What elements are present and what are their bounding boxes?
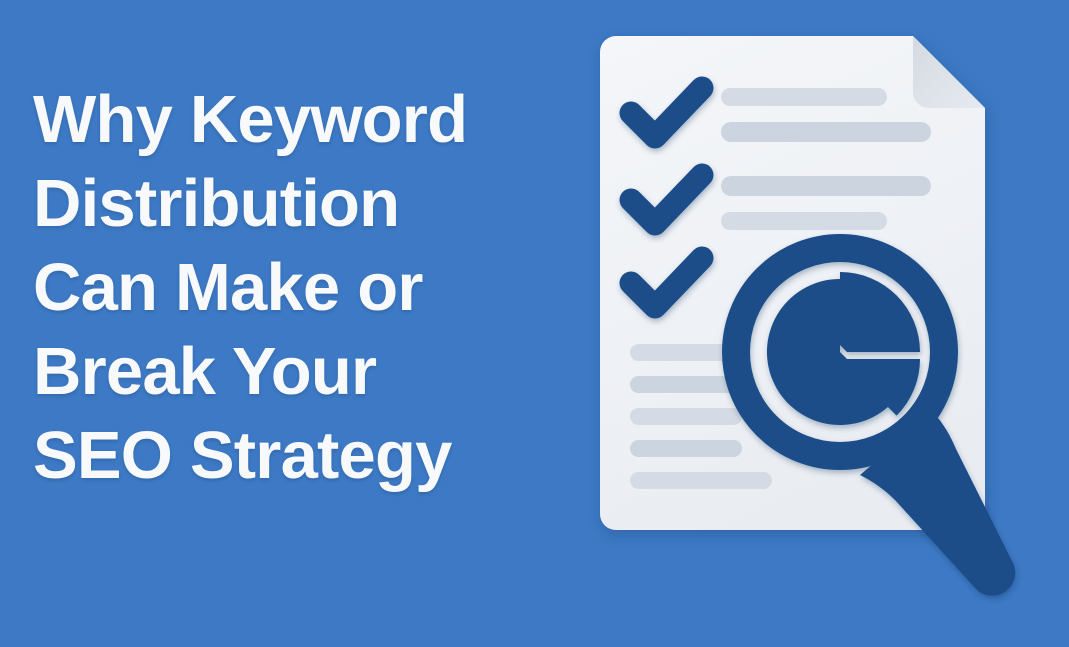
text-line	[630, 472, 772, 489]
document-folded-corner	[913, 36, 985, 108]
text-line	[721, 122, 931, 142]
seo-blog-banner: Why Keyword Distribution Can Make or Bre…	[0, 0, 1069, 647]
seo-checklist-illustration	[0, 0, 1069, 647]
text-line	[721, 176, 931, 196]
text-line	[721, 212, 887, 230]
text-line	[630, 440, 742, 457]
text-line	[630, 408, 742, 425]
text-line	[721, 88, 887, 106]
